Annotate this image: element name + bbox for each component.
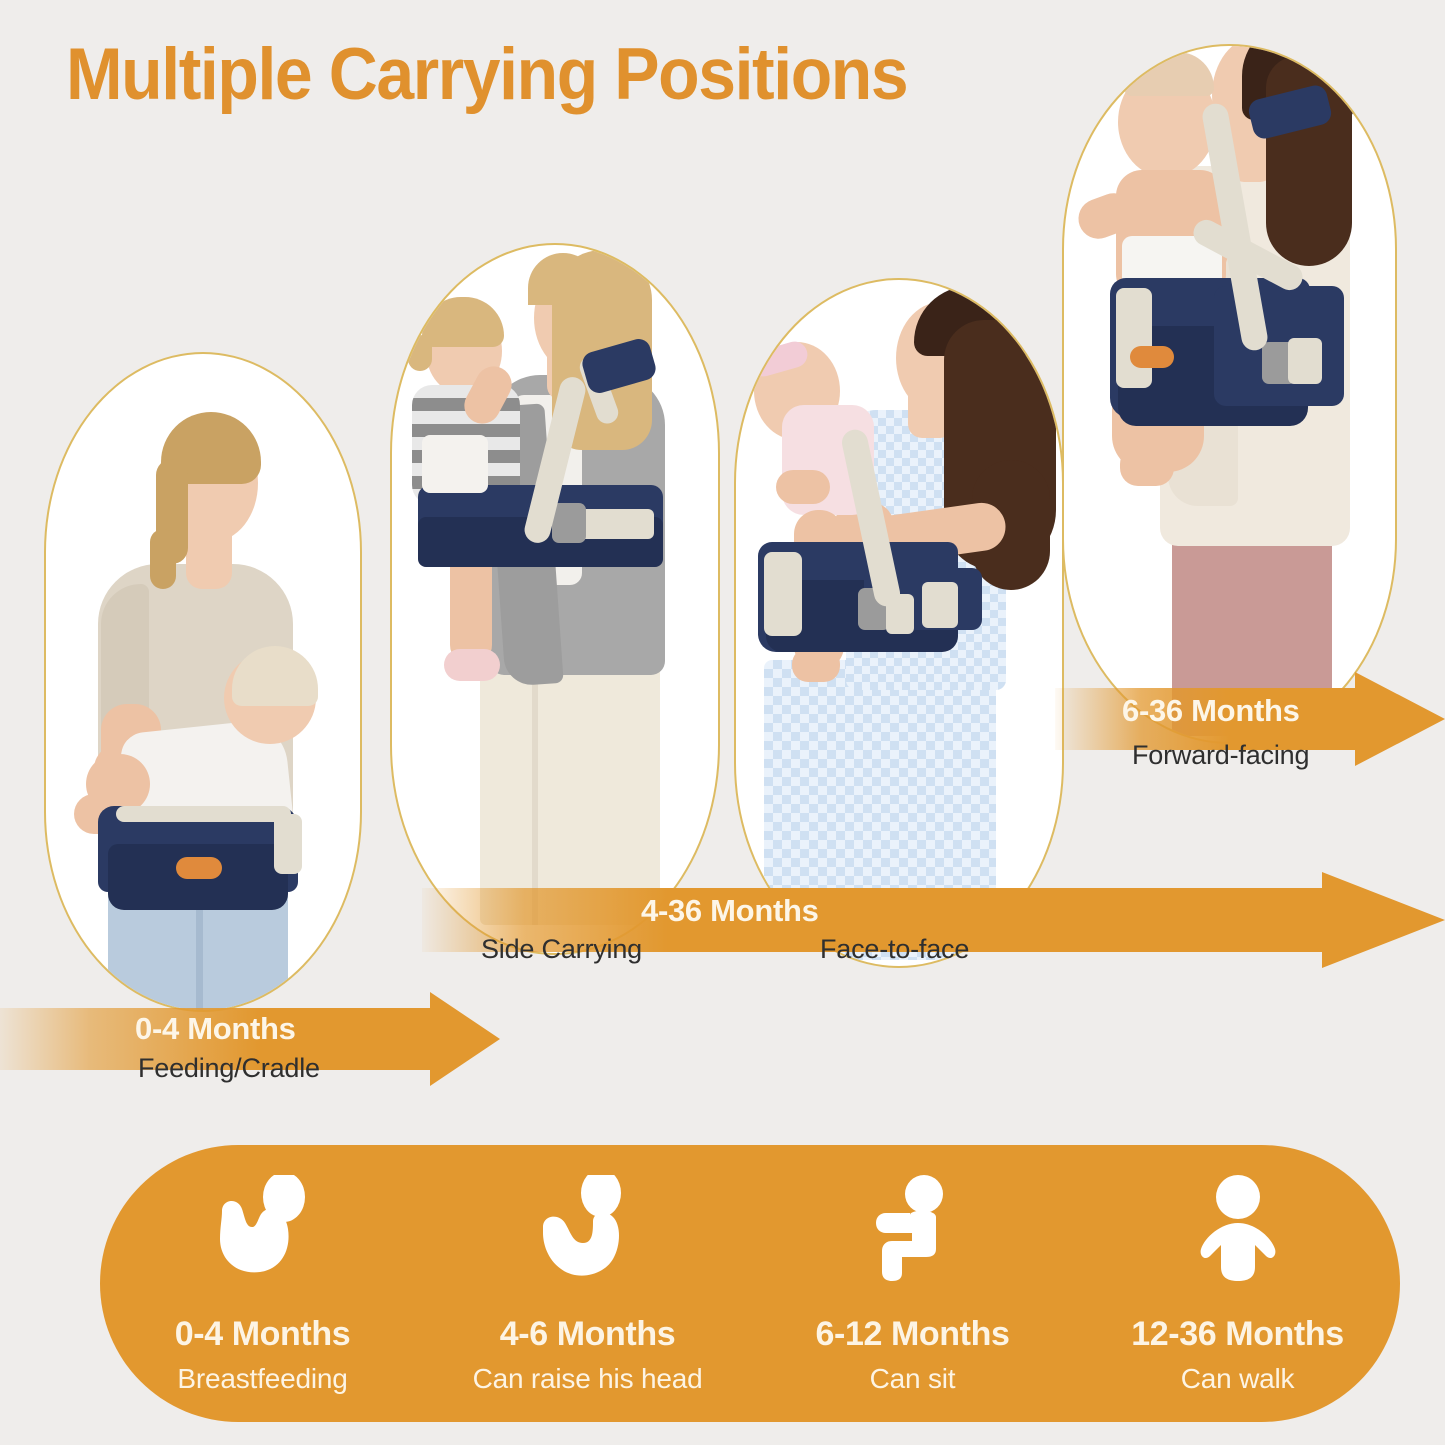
photo-side-carrying [392, 245, 718, 953]
milestone-age-12-36: 12-36 Months [1075, 1315, 1400, 1354]
milestone-age-4-6: 4-6 Months [425, 1315, 750, 1354]
milestone-item-0-4-months: 0-4 Months Breastfeeding [100, 1145, 425, 1422]
milestone-item-6-12-months: 6-12 Months Can sit [750, 1145, 1075, 1422]
baby-raising-head-icon [533, 1175, 643, 1287]
milestone-ability-4-6: Can raise his head [425, 1363, 750, 1395]
milestone-ability-6-12: Can sit [750, 1363, 1075, 1395]
infographic-root: Multiple Carrying Positions [0, 0, 1445, 1445]
baby-standing-icon [1183, 1175, 1293, 1287]
photo-panel-forward-facing [1062, 44, 1397, 744]
arrow-label-4-36-months: 4-36 Months [641, 893, 819, 929]
photo-panel-feeding [44, 352, 362, 1012]
arrow-label-6-36-months: 6-36 Months [1122, 693, 1300, 729]
photo-panel-face-to-face [734, 278, 1064, 968]
photo-forward-facing [1064, 46, 1395, 742]
milestone-item-12-36-months: 12-36 Months Can walk [1075, 1145, 1400, 1422]
position-label-face-to-face: Face-to-face [820, 934, 969, 965]
photo-face-to-face [736, 280, 1062, 966]
arrow-label-0-4-months: 0-4 Months [135, 1011, 296, 1047]
milestone-banner: 0-4 Months Breastfeeding 4-6 Months Can … [100, 1145, 1400, 1422]
milestone-ability-0-4: Breastfeeding [100, 1363, 425, 1395]
milestone-ability-12-36: Can walk [1075, 1363, 1400, 1395]
position-label-forward-facing: Forward-facing [1132, 740, 1309, 771]
baby-sitting-icon [858, 1175, 968, 1287]
baby-lying-breastfeeding-icon [208, 1175, 318, 1287]
position-label-side-carrying: Side Carrying [481, 934, 642, 965]
photo-feeding [46, 354, 360, 1010]
milestone-age-0-4: 0-4 Months [100, 1315, 425, 1354]
milestone-age-6-12: 6-12 Months [750, 1315, 1075, 1354]
page-title: Multiple Carrying Positions [66, 38, 907, 111]
milestone-item-4-6-months: 4-6 Months Can raise his head [425, 1145, 750, 1422]
photo-panel-side-carrying [390, 243, 720, 955]
position-label-feeding-cradle: Feeding/Cradle [138, 1053, 320, 1084]
